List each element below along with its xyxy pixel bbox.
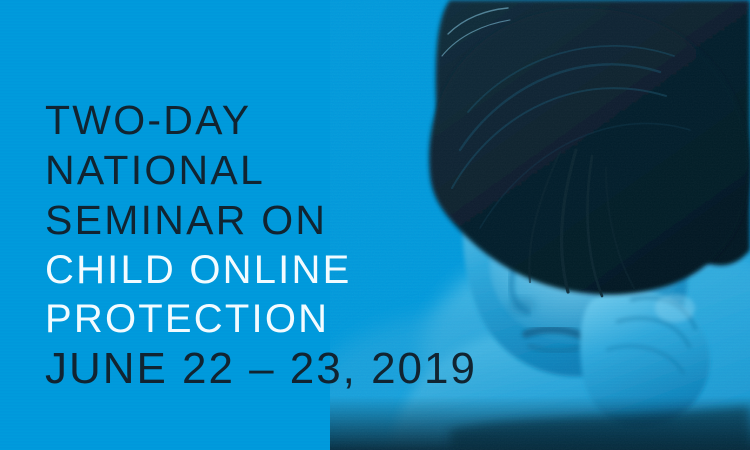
poster-headline-block: TWO-DAY NATIONAL SEMINAR ON CHILD ONLINE…	[45, 100, 477, 391]
headline-line-national: NATIONAL	[45, 150, 477, 191]
headline-line-two-day: TWO-DAY	[45, 100, 477, 141]
event-poster: TWO-DAY NATIONAL SEMINAR ON CHILD ONLINE…	[0, 0, 750, 450]
event-date-label: JUNE 22 – 23, 2019	[45, 347, 477, 391]
headline-line-child-online: CHILD ONLINE	[45, 250, 477, 290]
headline-line-protection: PROTECTION	[45, 299, 477, 339]
headline-line-seminar-on: SEMINAR ON	[45, 200, 477, 241]
